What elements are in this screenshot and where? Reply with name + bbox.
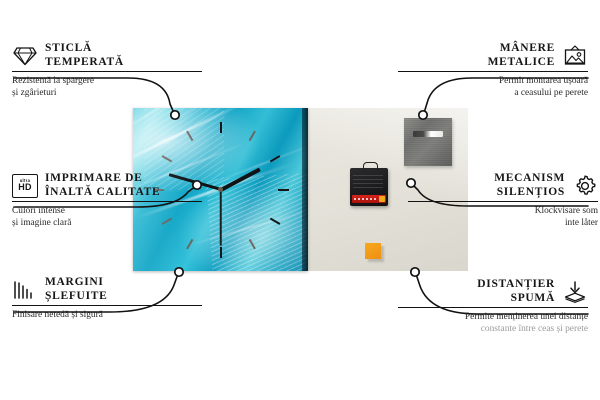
battery [352,195,386,203]
feature-title: DISTANȚIER SPUMĂ [477,278,555,305]
infographic-canvas: STICLĂ TEMPERATĂ Rezistentă la spargere … [0,0,600,400]
foam-spacer [365,243,381,259]
feature-title: MECANISM SILENȚIOS [494,172,565,199]
feature-title: IMPRIMARE DE ÎNALTĂ CALITATE [45,172,160,199]
feature-description: Klockvisare som inte låter [408,205,598,229]
feature-description: Permit montarea ușoară a ceasului pe per… [398,75,588,99]
metal-hanger-plate [404,118,452,166]
feature-divider [398,307,588,308]
feature-heading: ultra HD IMPRIMARE DE ÎNALTĂ CALITATE [12,172,202,199]
clock-edge [302,108,308,271]
feature-heading: DISTANȚIER SPUMĂ [398,278,588,305]
hd-main-label: HD [18,183,31,192]
feature-callout-glass: STICLĂ TEMPERATĂ Rezistentă la spargere … [12,42,202,99]
diamond-icon [12,44,38,68]
feature-divider [12,305,202,306]
feature-divider [408,201,598,202]
feature-description: Permite menținerea unei distanțe constan… [398,311,588,335]
feature-description: Culori intense și imagine clară [12,205,202,229]
feature-divider [12,71,202,72]
feature-title: MÂNERE METALICE [488,42,555,69]
feature-title: STICLĂ TEMPERATĂ [45,42,124,69]
ultra-hd-icon: ultra HD [12,174,38,198]
gear-icon [572,174,598,198]
plate-texture [404,118,452,166]
movement-hanger-hook [363,162,378,172]
battery-plus-terminal [379,196,385,202]
feature-heading: MARGINI ȘLEFUITE [12,276,202,303]
foam-pad-icon [562,280,588,304]
feature-callout-spacer: DISTANȚIER SPUMĂ Permite menținerea unei… [398,278,588,335]
feature-description: Rezistentă la spargere și zgârieturi [12,75,202,99]
feature-callout-handles: MÂNERE METALICE Permit montarea ușoară a… [398,42,588,99]
polished-edge-icon [12,278,38,302]
feature-divider [12,201,202,202]
picture-hanger-icon [562,44,588,68]
battery-stripe [354,198,376,200]
hanger-slot [413,131,443,137]
feature-callout-print: ultra HD IMPRIMARE DE ÎNALTĂ CALITATE Cu… [12,172,202,229]
feature-description: Finisare netedă și sigură [12,309,202,321]
feature-callout-mechanism: MECANISM SILENȚIOS Klockvisare som inte … [408,172,598,229]
feature-title: MARGINI ȘLEFUITE [45,276,107,303]
feature-heading: MÂNERE METALICE [398,42,588,69]
movement-label-print [353,174,383,188]
feature-callout-edges: MARGINI ȘLEFUITE Finisare netedă și sigu… [12,276,202,321]
clock-movement [350,168,388,206]
feature-heading: STICLĂ TEMPERATĂ [12,42,202,69]
feature-divider [398,71,588,72]
feature-heading: MECANISM SILENȚIOS [408,172,598,199]
